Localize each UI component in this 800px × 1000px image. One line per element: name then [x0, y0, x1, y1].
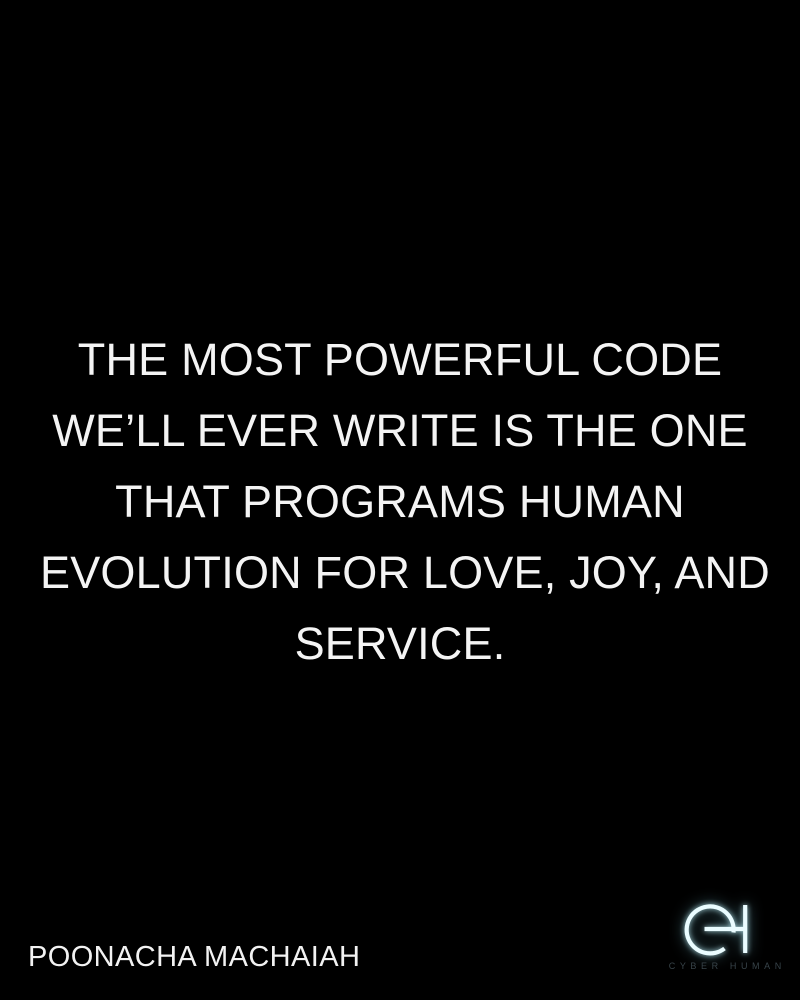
quote-line-5: SERVICE.	[40, 608, 760, 679]
quote-line-1: THE MOST POWERFUL CODE	[40, 324, 760, 395]
quote-line-4: EVOLUTION FOR LOVE, JOY, AND	[40, 537, 760, 608]
brand-tagline: CYBER HUMAN	[655, 960, 795, 972]
quote-line-2: WE’LL EVER WRITE IS THE ONE	[40, 395, 760, 466]
brand-logo: CYBER HUMAN	[655, 896, 795, 986]
quote-text: THE MOST POWERFUL CODE WE’LL EVER WRITE …	[0, 324, 800, 679]
quote-line-3: THAT PROGRAMS HUMAN	[40, 466, 760, 537]
quote-card: THE MOST POWERFUL CODE WE’LL EVER WRITE …	[0, 0, 800, 1000]
author-attribution: POONACHA MACHAIAH	[28, 941, 360, 973]
ch-monogram-icon	[677, 899, 757, 959]
